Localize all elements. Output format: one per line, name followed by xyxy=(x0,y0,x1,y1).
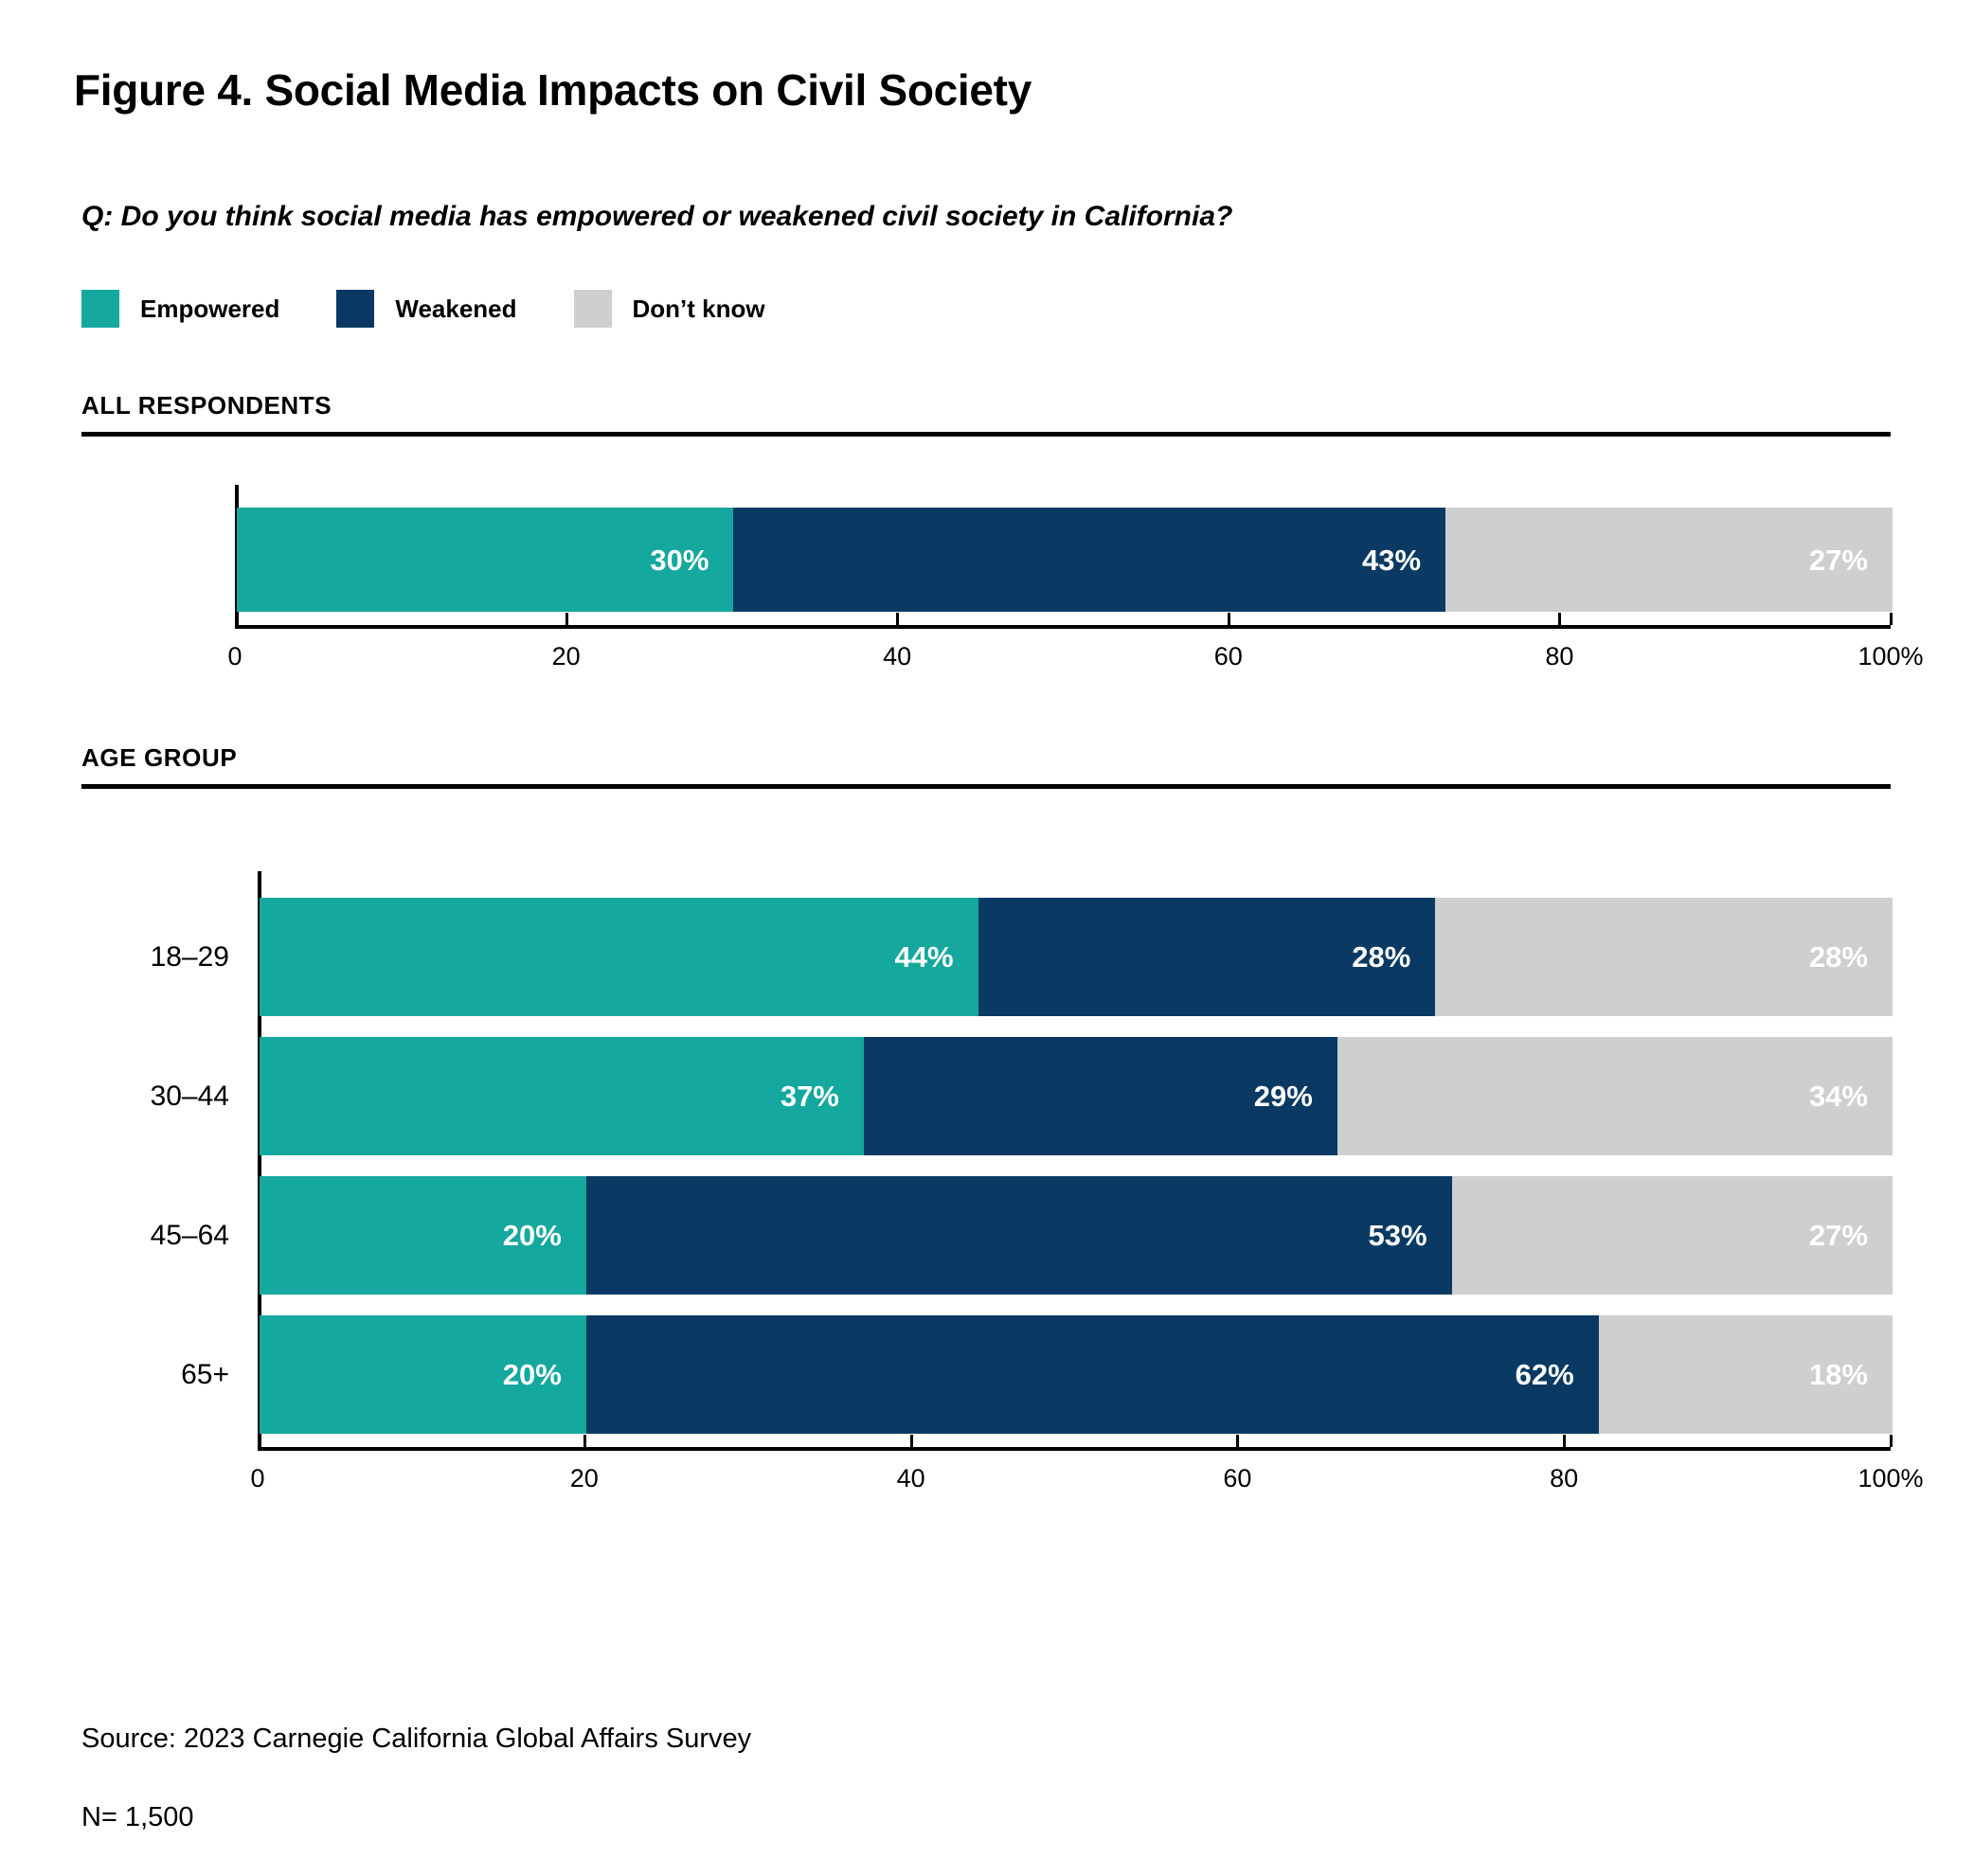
bar-segment-weakened[interactable]: 43% xyxy=(733,508,1445,612)
x-axis-tick-label: 40 xyxy=(897,1464,925,1493)
legend-swatch-dont-know xyxy=(574,290,612,328)
bar-segment-value: 20% xyxy=(503,1221,586,1250)
legend-label-dont-know: Don’t know xyxy=(633,295,765,324)
bar-segment-value: 37% xyxy=(781,1081,864,1111)
category-label: 45–64 xyxy=(59,1220,229,1252)
bar-segment-value: 28% xyxy=(1809,942,1893,972)
section-divider xyxy=(81,432,1891,437)
bar-segment-value: 62% xyxy=(1516,1360,1599,1389)
x-axis-tick-label: 20 xyxy=(552,642,581,671)
bar-segment-value: 29% xyxy=(1254,1081,1337,1111)
x-axis-tick xyxy=(1228,613,1230,625)
bar-segment-empowered[interactable]: 20% xyxy=(260,1176,586,1295)
legend-label-empowered: Empowered xyxy=(140,295,279,324)
bar-segment-don-t-know[interactable]: 18% xyxy=(1599,1315,1893,1434)
bar-row: 37%29%34% xyxy=(260,1037,1893,1155)
page-title: Figure 4. Social Media Impacts on Civil … xyxy=(74,64,1032,116)
source-line-1: Source: 2023 Carnegie California Global … xyxy=(81,1720,751,1759)
legend-item-empowered[interactable]: Empowered xyxy=(81,290,279,328)
category-label: 30–44 xyxy=(59,1081,229,1113)
bar-segment-don-t-know[interactable]: 28% xyxy=(1435,898,1893,1016)
bar-row: 30%43%27% xyxy=(237,508,1893,612)
x-axis-tick-label: 0 xyxy=(227,642,242,671)
bar-segment-empowered[interactable]: 44% xyxy=(260,898,978,1016)
section-title-age-group: AGE GROUP xyxy=(81,743,1891,773)
bar-row: 20%62%18% xyxy=(260,1315,1893,1434)
x-axis-tick xyxy=(1236,1435,1239,1447)
section-header-all-respondents: ALL RESPONDENTS xyxy=(81,391,1891,437)
bar-segment-empowered[interactable]: 37% xyxy=(260,1037,864,1155)
x-axis-tick xyxy=(565,613,568,625)
bar-segment-don-t-know[interactable]: 27% xyxy=(1452,1176,1893,1295)
bar-segment-value: 30% xyxy=(650,545,733,575)
legend-swatch-weakened xyxy=(336,290,374,328)
category-label: 18–29 xyxy=(59,941,229,974)
bar-segment-value: 20% xyxy=(503,1360,586,1389)
x-axis-tick-label: 0 xyxy=(250,1464,264,1493)
bar-segment-empowered[interactable]: 30% xyxy=(237,508,733,612)
bar-segment-weakened[interactable]: 29% xyxy=(864,1037,1337,1155)
category-label: 65+ xyxy=(59,1359,229,1391)
x-axis-tick-label: 40 xyxy=(883,642,911,671)
chart-legend: Empowered Weakened Don’t know xyxy=(81,290,822,328)
bar-row: 20%53%27% xyxy=(260,1176,1893,1295)
legend-swatch-empowered xyxy=(81,290,119,328)
bar-segment-don-t-know[interactable]: 34% xyxy=(1337,1037,1893,1155)
source-line-2: N= 1,500 xyxy=(81,1798,751,1837)
legend-label-weakened: Weakened xyxy=(395,295,516,324)
bar-segment-weakened[interactable]: 28% xyxy=(978,898,1436,1016)
x-axis-tick-label: 80 xyxy=(1545,642,1573,671)
figure-page: Figure 4. Social Media Impacts on Civil … xyxy=(0,0,1974,1851)
chart-all-respondents: 020406080100%30%43%27% xyxy=(235,485,1974,691)
bar-segment-value: 18% xyxy=(1809,1360,1893,1389)
legend-item-dont-know[interactable]: Don’t know xyxy=(574,290,765,328)
bar-row: 44%28%28% xyxy=(260,898,1893,1016)
x-axis-tick-label: 100% xyxy=(1857,642,1923,671)
x-axis-tick xyxy=(1890,1435,1893,1447)
bar-segment-empowered[interactable]: 20% xyxy=(260,1315,586,1434)
x-axis-tick xyxy=(896,613,899,625)
bar-segment-value: 44% xyxy=(895,942,978,972)
bar-segment-value: 43% xyxy=(1362,545,1445,575)
bar-segment-don-t-know[interactable]: 27% xyxy=(1445,508,1893,612)
legend-item-weakened[interactable]: Weakened xyxy=(336,290,516,328)
x-axis-tick xyxy=(910,1435,913,1447)
x-axis-tick-label: 60 xyxy=(1223,1464,1251,1493)
bar-segment-weakened[interactable]: 53% xyxy=(586,1176,1452,1295)
chart-age-group: 020406080100%44%28%28%18–2937%29%34%30–4… xyxy=(258,871,1974,1513)
x-axis-line xyxy=(258,1447,1891,1451)
x-axis-tick-label: 60 xyxy=(1214,642,1243,671)
x-axis-tick xyxy=(1563,1435,1566,1447)
x-axis-tick xyxy=(1558,613,1561,625)
bar-segment-value: 34% xyxy=(1809,1081,1893,1111)
survey-question: Q: Do you think social media has empower… xyxy=(81,201,1232,233)
bar-segment-value: 28% xyxy=(1352,942,1435,972)
bar-segment-weakened[interactable]: 62% xyxy=(586,1315,1599,1434)
x-axis-tick-label: 20 xyxy=(570,1464,599,1493)
bar-segment-value: 53% xyxy=(1368,1221,1451,1250)
x-axis-line xyxy=(235,625,1891,629)
section-header-age-group: AGE GROUP xyxy=(81,743,1891,789)
section-title-all-respondents: ALL RESPONDENTS xyxy=(81,391,1891,420)
bar-segment-value: 27% xyxy=(1809,1221,1893,1250)
source-note: Source: 2023 Carnegie California Global … xyxy=(81,1681,751,1876)
x-axis-tick-label: 100% xyxy=(1857,1464,1923,1493)
x-axis-tick-label: 80 xyxy=(1550,1464,1578,1493)
x-axis-tick xyxy=(1890,613,1893,625)
section-divider xyxy=(81,784,1891,789)
x-axis-tick xyxy=(583,1435,586,1447)
bar-segment-value: 27% xyxy=(1809,545,1893,575)
